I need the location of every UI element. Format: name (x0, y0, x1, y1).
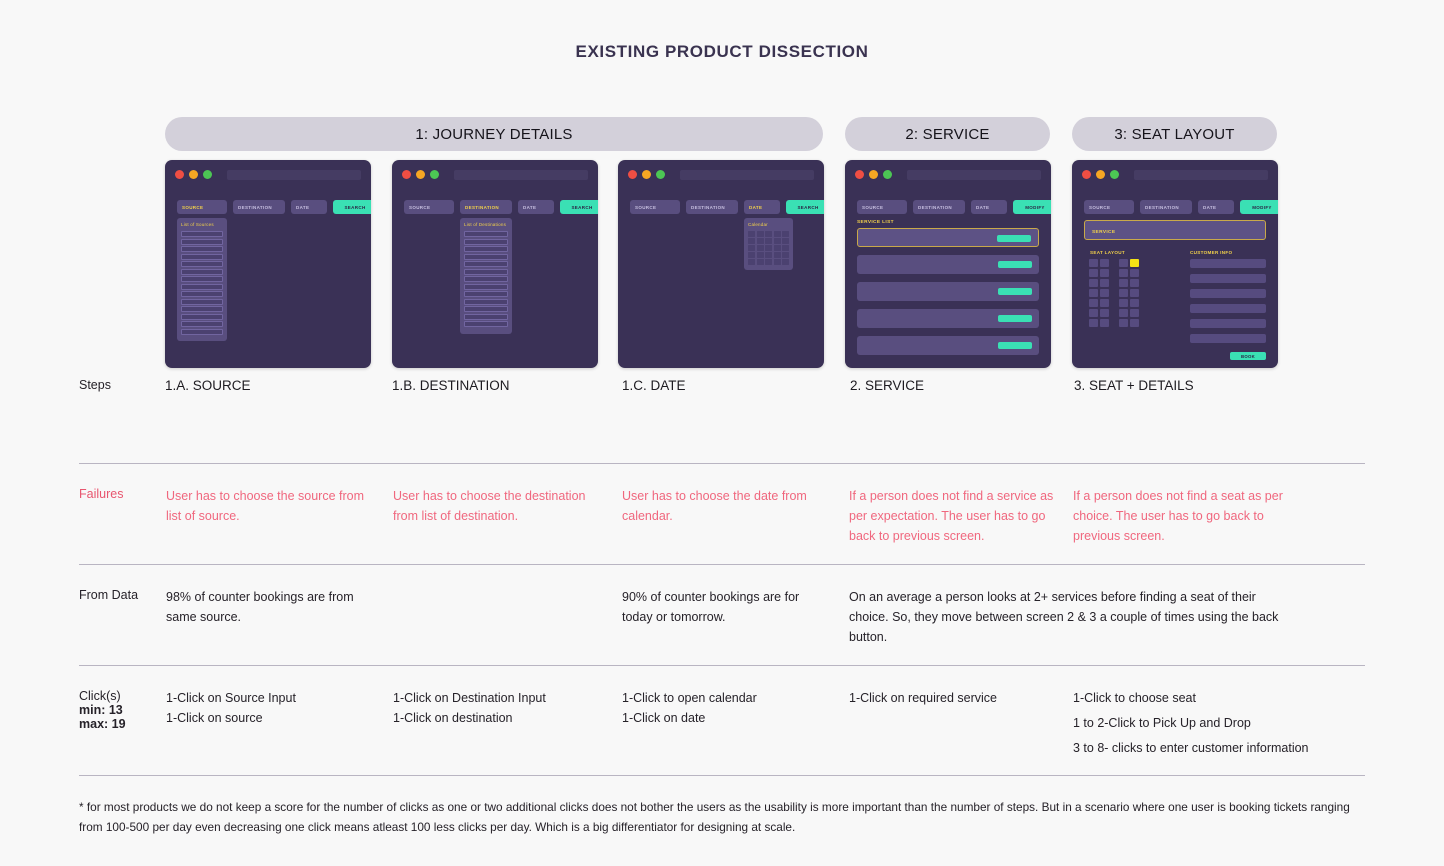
aisle-spacer (1111, 259, 1117, 267)
search-button[interactable]: SEARCH (560, 200, 598, 214)
failure-source: User has to choose the source from list … (166, 486, 366, 526)
list-item[interactable] (464, 239, 508, 245)
clicks-label: Click(s) (79, 689, 121, 703)
aisle-spacer (1111, 269, 1117, 277)
list-item[interactable] (464, 284, 508, 290)
source-field[interactable]: SOURCE (630, 200, 680, 214)
window-controls (402, 170, 439, 179)
search-field-row: SOURCE DESTINATION DATE SEARCH (630, 200, 812, 214)
clicks-seat-3: 3 to 8- clicks to enter customer informa… (1073, 738, 1309, 758)
seat-selected[interactable] (1130, 259, 1139, 267)
mockup-seat-layout-screen: SOURCE DESTINATION DATE MODIFY SERVICE S… (1072, 160, 1278, 368)
phase-pill-seat-layout: 3: SEAT LAYOUT (1072, 117, 1277, 151)
seat[interactable] (1100, 259, 1109, 267)
list-item[interactable] (181, 276, 223, 282)
calendar-day[interactable] (765, 245, 772, 251)
date-field[interactable]: DATE (518, 200, 554, 214)
calendar-day[interactable] (748, 245, 755, 251)
destination-field[interactable]: DESTINATION (233, 200, 285, 214)
close-icon (855, 170, 864, 179)
seat[interactable] (1100, 279, 1109, 287)
calendar-day[interactable] (757, 231, 764, 237)
search-field-row: SOURCE DESTINATION DATE SEARCH (177, 200, 359, 214)
calendar-day[interactable] (774, 245, 781, 251)
search-field-row: SOURCE DESTINATION DATE MODIFY (857, 200, 1039, 214)
list-item[interactable] (181, 329, 223, 335)
minimize-icon (642, 170, 651, 179)
address-bar (454, 170, 588, 180)
minimize-icon (869, 170, 878, 179)
minimize-icon (416, 170, 425, 179)
calendar-day[interactable] (782, 238, 789, 244)
seat[interactable] (1089, 289, 1098, 297)
seat[interactable] (1119, 259, 1128, 267)
seat[interactable] (1089, 309, 1098, 317)
aisle-spacer (1111, 279, 1117, 287)
seat[interactable] (1119, 319, 1128, 327)
maximize-icon (656, 170, 665, 179)
service-action-chip[interactable] (998, 288, 1032, 295)
service-action-chip[interactable] (997, 235, 1031, 242)
list-item[interactable] (464, 261, 508, 267)
source-dropdown[interactable]: List of Sources (177, 218, 227, 341)
aisle-spacer (1111, 319, 1117, 327)
maximize-icon (1110, 170, 1119, 179)
close-icon (402, 170, 411, 179)
seat[interactable] (1089, 319, 1098, 327)
mockup-service-screen: SOURCE DESTINATION DATE MODIFY SERVICE L… (845, 160, 1051, 368)
from-data-date: 90% of counter bookings are for today or… (622, 587, 822, 627)
address-bar (1134, 170, 1268, 180)
service-row-selected[interactable] (857, 228, 1039, 247)
seat[interactable] (1089, 279, 1098, 287)
window-controls (175, 170, 212, 179)
list-item[interactable] (181, 321, 223, 327)
service-row[interactable] (857, 309, 1039, 328)
step-label-service: 2. SERVICE (850, 378, 924, 393)
list-item[interactable] (181, 254, 223, 260)
list-item[interactable] (464, 246, 508, 252)
service-row[interactable] (857, 282, 1039, 301)
seat[interactable] (1119, 309, 1128, 317)
list-item[interactable] (181, 291, 223, 297)
seat[interactable] (1130, 319, 1139, 327)
seat[interactable] (1119, 289, 1128, 297)
failure-seat: If a person does not find a seat as per … (1073, 486, 1283, 546)
destination-field[interactable]: DESTINATION (686, 200, 738, 214)
date-field[interactable]: DATE (291, 200, 327, 214)
seat[interactable] (1089, 259, 1098, 267)
list-item[interactable] (181, 306, 223, 312)
list-item[interactable] (464, 314, 508, 320)
step-label-seat: 3. SEAT + DETAILS (1074, 378, 1194, 393)
window-controls (1082, 170, 1119, 179)
failure-service: If a person does not find a service as p… (849, 486, 1057, 546)
calendar-day[interactable] (774, 252, 781, 258)
step-label-date: 1.C. DATE (622, 378, 686, 393)
clicks-source-2: 1-Click on source (166, 708, 263, 728)
address-bar (680, 170, 814, 180)
list-item[interactable] (181, 314, 223, 320)
source-field[interactable]: SOURCE (404, 200, 454, 214)
calendar-day[interactable] (774, 238, 781, 244)
calendar-day[interactable] (748, 231, 755, 237)
maximize-icon (203, 170, 212, 179)
search-field-row: SOURCE DESTINATION DATE SEARCH (404, 200, 586, 214)
calendar-day[interactable] (782, 252, 789, 258)
source-dropdown-label: List of Sources (181, 222, 223, 228)
failure-date: User has to choose the date from calenda… (622, 486, 822, 526)
destination-dropdown-label: List of Destinations (464, 222, 508, 228)
seat[interactable] (1119, 299, 1128, 307)
book-button[interactable]: BOOK (1230, 352, 1266, 360)
mockup-date-screen: SOURCE DESTINATION DATE SEARCH Calendar (618, 160, 824, 368)
phase-pill-journey-details: 1: JOURNEY DETAILS (165, 117, 823, 151)
clicks-destination-2: 1-Click on destination (393, 708, 513, 728)
divider (79, 775, 1365, 776)
calendar-day[interactable] (782, 259, 789, 265)
seat[interactable] (1119, 269, 1128, 277)
row-label-from-data: From Data (79, 588, 138, 602)
phase-pill-service: 2: SERVICE (845, 117, 1050, 151)
customer-info-field[interactable] (1190, 304, 1266, 313)
calendar-day[interactable] (782, 231, 789, 237)
window-controls (628, 170, 665, 179)
clicks-service-1: 1-Click on required service (849, 688, 997, 708)
address-bar (227, 170, 361, 180)
date-field[interactable]: DATE (971, 200, 1007, 214)
page-title: EXISTING PRODUCT DISSECTION (0, 42, 1444, 62)
list-item[interactable] (181, 269, 223, 275)
source-field[interactable]: SOURCE (177, 200, 227, 214)
row-label-steps: Steps (79, 378, 111, 392)
date-field[interactable]: DATE (744, 200, 780, 214)
aisle-spacer (1111, 309, 1117, 317)
calendar-day[interactable] (774, 231, 781, 237)
clicks-date-1: 1-Click to open calendar (622, 688, 757, 708)
list-item[interactable] (464, 306, 508, 312)
customer-info-field[interactable] (1190, 274, 1266, 283)
service-action-chip[interactable] (998, 315, 1032, 322)
calendar-day[interactable] (774, 259, 781, 265)
source-dropdown-rows[interactable] (181, 231, 223, 335)
calendar-day[interactable] (757, 259, 764, 265)
calendar-day[interactable] (765, 259, 772, 265)
list-item[interactable] (181, 246, 223, 252)
clicks-max: max: 19 (79, 717, 126, 731)
close-icon (1082, 170, 1091, 179)
calendar-day[interactable] (757, 238, 764, 244)
search-button[interactable]: SEARCH (333, 200, 371, 214)
list-item[interactable] (464, 291, 508, 297)
from-data-source: 98% of counter bookings are from same so… (166, 587, 366, 627)
seat[interactable] (1100, 269, 1109, 277)
service-row[interactable] (857, 255, 1039, 274)
search-button[interactable]: SEARCH (786, 200, 824, 214)
list-item[interactable] (464, 269, 508, 275)
calendar-day[interactable] (782, 245, 789, 251)
selected-service-banner[interactable]: SERVICE (1084, 220, 1266, 240)
modify-button[interactable]: MODIFY (1240, 200, 1278, 214)
list-item[interactable] (181, 239, 223, 245)
calendar-day[interactable] (748, 238, 755, 244)
seat[interactable] (1130, 299, 1139, 307)
row-label-failures: Failures (79, 487, 123, 501)
service-row[interactable] (857, 336, 1039, 355)
seat[interactable] (1100, 319, 1109, 327)
calendar-day[interactable] (757, 252, 764, 258)
source-field[interactable]: SOURCE (1084, 200, 1134, 214)
from-data-service: On an average a person looks at 2+ servi… (849, 587, 1281, 647)
aisle-spacer (1111, 289, 1117, 297)
calendar-popover[interactable]: Calendar (744, 218, 793, 270)
seat[interactable] (1100, 299, 1109, 307)
seat-layout-label: SEAT LAYOUT (1090, 250, 1125, 255)
list-item[interactable] (181, 231, 223, 237)
mockup-destination-screen: SOURCE DESTINATION DATE SEARCH List of D… (392, 160, 598, 368)
seat-grid[interactable] (1089, 259, 1139, 327)
clicks-min: min: 13 (79, 703, 126, 717)
destination-field[interactable]: DESTINATION (913, 200, 965, 214)
seat[interactable] (1089, 299, 1098, 307)
seat[interactable] (1100, 309, 1109, 317)
divider (79, 564, 1365, 565)
list-item[interactable] (464, 231, 508, 237)
minimize-icon (1096, 170, 1105, 179)
customer-info-label: CUSTOMER INFO (1190, 250, 1232, 255)
service-action-chip[interactable] (998, 261, 1032, 268)
list-item[interactable] (181, 261, 223, 267)
clicks-seat-2: 1 to 2-Click to Pick Up and Drop (1073, 713, 1251, 733)
list-item[interactable] (181, 299, 223, 305)
list-item[interactable] (464, 299, 508, 305)
calendar-day[interactable] (748, 252, 755, 258)
customer-info-field[interactable] (1190, 319, 1266, 328)
clicks-source-1: 1-Click on Source Input (166, 688, 296, 708)
seat[interactable] (1130, 269, 1139, 277)
calendar-label: Calendar (748, 222, 789, 228)
divider (79, 665, 1365, 666)
maximize-icon (430, 170, 439, 179)
window-controls (855, 170, 892, 179)
destination-field[interactable]: DESTINATION (1140, 200, 1192, 214)
list-item[interactable] (181, 284, 223, 290)
minimize-icon (189, 170, 198, 179)
selected-service-label: SERVICE (1092, 230, 1115, 235)
seat[interactable] (1130, 279, 1139, 287)
customer-info-field[interactable] (1190, 289, 1266, 298)
divider (79, 463, 1365, 464)
address-bar (907, 170, 1041, 180)
slide-canvas: EXISTING PRODUCT DISSECTION 1: JOURNEY D… (0, 0, 1444, 866)
destination-dropdown-rows[interactable] (464, 231, 508, 327)
seat[interactable] (1119, 279, 1128, 287)
seat[interactable] (1130, 289, 1139, 297)
calendar-day[interactable] (757, 245, 764, 251)
seat[interactable] (1089, 269, 1098, 277)
step-label-source: 1.A. SOURCE (165, 378, 251, 393)
service-action-chip[interactable] (998, 342, 1032, 349)
calendar-day[interactable] (765, 252, 772, 258)
modify-button[interactable]: MODIFY (1013, 200, 1051, 214)
service-list-label: SERVICE LIST (857, 220, 894, 225)
row-label-clicks: Click(s) min: 13 max: 19 (79, 689, 126, 731)
close-icon (175, 170, 184, 179)
maximize-icon (883, 170, 892, 179)
clicks-destination-1: 1-Click on Destination Input (393, 688, 546, 708)
footnote: * for most products we do not keep a sco… (79, 797, 1369, 837)
calendar-grid[interactable] (748, 231, 789, 265)
list-item[interactable] (464, 321, 508, 327)
calendar-day[interactable] (765, 231, 772, 237)
failure-destination: User has to choose the destination from … (393, 486, 599, 526)
step-label-destination: 1.B. DESTINATION (392, 378, 510, 393)
clicks-seat-1: 1-Click to choose seat (1073, 688, 1196, 708)
seat[interactable] (1100, 289, 1109, 297)
aisle-spacer (1111, 299, 1117, 307)
date-field[interactable]: DATE (1198, 200, 1234, 214)
customer-info-field[interactable] (1190, 334, 1266, 343)
clicks-date-2: 1-Click on date (622, 708, 705, 728)
calendar-day[interactable] (765, 238, 772, 244)
close-icon (628, 170, 637, 179)
list-item[interactable] (464, 254, 508, 260)
list-item[interactable] (464, 276, 508, 282)
search-field-row: SOURCE DESTINATION DATE MODIFY (1084, 200, 1266, 214)
destination-dropdown[interactable]: List of Destinations (460, 218, 512, 334)
mockup-source-screen: SOURCE DESTINATION DATE SEARCH List of S… (165, 160, 371, 368)
source-field[interactable]: SOURCE (857, 200, 907, 214)
seat[interactable] (1130, 309, 1139, 317)
customer-info-field[interactable] (1190, 259, 1266, 268)
calendar-day[interactable] (748, 259, 755, 265)
destination-field[interactable]: DESTINATION (460, 200, 512, 214)
